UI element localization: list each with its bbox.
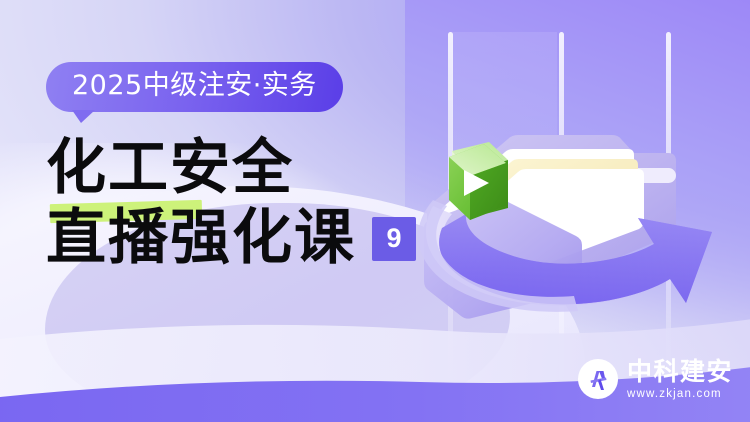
course-badge: 2025中级注安·实务 <box>46 62 343 112</box>
zkjan-logo-icon <box>578 359 618 399</box>
brand-url: www.zkjan.com <box>627 389 733 401</box>
brand-logo: 中科建安 www.zkjan.com <box>578 359 733 401</box>
title-line-1: 化工安全 <box>46 136 466 200</box>
brand-name: 中科建安 <box>627 359 733 384</box>
title-wrapper: 化工安全 直播强化课 9 <box>46 136 466 270</box>
brand-text: 中科建安 www.zkjan.com <box>627 359 733 401</box>
course-promo-banner: 2025中级注安·实务 化工安全 直播强化课 9 中科建安 www.zkjan.… <box>0 0 750 422</box>
title-line-2-row: 直播强化课 9 <box>46 206 466 270</box>
title-line-2: 直播强化课 <box>46 206 356 270</box>
headline-group: 2025中级注安·实务 化工安全 直播强化课 9 <box>46 62 466 271</box>
logo-mark-svg <box>581 362 615 396</box>
episode-number-badge: 9 <box>372 217 416 261</box>
